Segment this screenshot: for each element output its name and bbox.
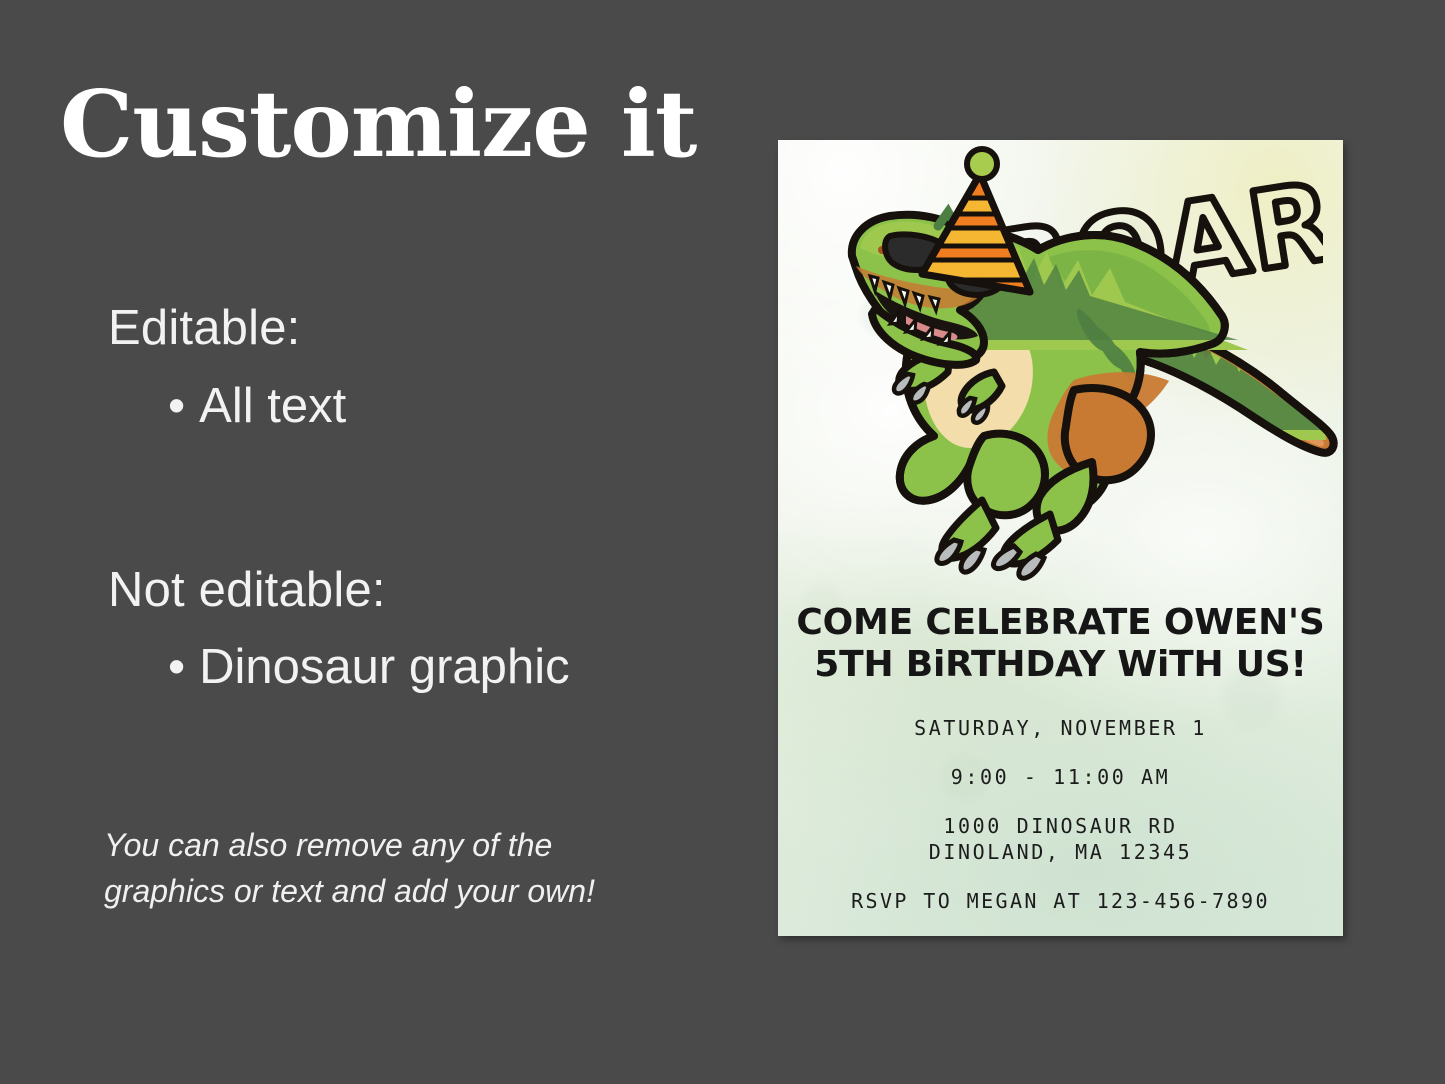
invitation-card-preview: ROAR! [778,140,1343,936]
card-rsvp-block: RSVP TO MEGAN AT 123-456-7890 [778,888,1343,915]
card-address-line-2: DINOLAND, MA 12345 [778,839,1343,866]
editable-heading: Editable: [108,300,301,356]
list-item: • Dinosaur graphic [168,643,570,692]
card-time-block: 9:00 - 11:00 AM [778,764,1343,791]
card-rsvp: RSVP TO MEGAN AT 123-456-7890 [778,888,1343,915]
card-details: SATURDAY, NOVEMBER 1 9:00 - 11:00 AM 100… [778,715,1343,915]
card-headline-line-2: 5TH BiRTHDAY WiTH US! [792,644,1329,686]
card-headline-line-1: COME CELEBRATE OWEN'S [792,602,1329,644]
card-date: SATURDAY, NOVEMBER 1 [778,715,1343,742]
left-info-panel: Customize it Editable: • All text Not ed… [0,0,760,1084]
footnote: You can also remove any of the graphics … [104,822,684,915]
bullet-dot-icon: • [168,643,185,692]
card-address-block: 1000 DINOSAUR RD DINOLAND, MA 12345 [778,813,1343,867]
bullet-dot-icon: • [168,382,185,431]
editable-item-label: All text [199,382,346,431]
card-address-line-1: 1000 DINOSAUR RD [778,813,1343,840]
footnote-line-2: graphics or text and add your own! [104,868,684,914]
card-date-block: SATURDAY, NOVEMBER 1 [778,715,1343,742]
card-headline: COME CELEBRATE OWEN'S 5TH BiRTHDAY WiTH … [778,602,1343,686]
card-time: 9:00 - 11:00 AM [778,764,1343,791]
footnote-line-1: You can also remove any of the [104,822,684,868]
not-editable-item-label: Dinosaur graphic [199,643,569,692]
page-title: Customize it [60,78,696,170]
dinosaur-illustration [778,140,1343,610]
list-item: • All text [168,382,346,431]
not-editable-heading: Not editable: [108,562,386,618]
pompom-icon [967,149,997,179]
